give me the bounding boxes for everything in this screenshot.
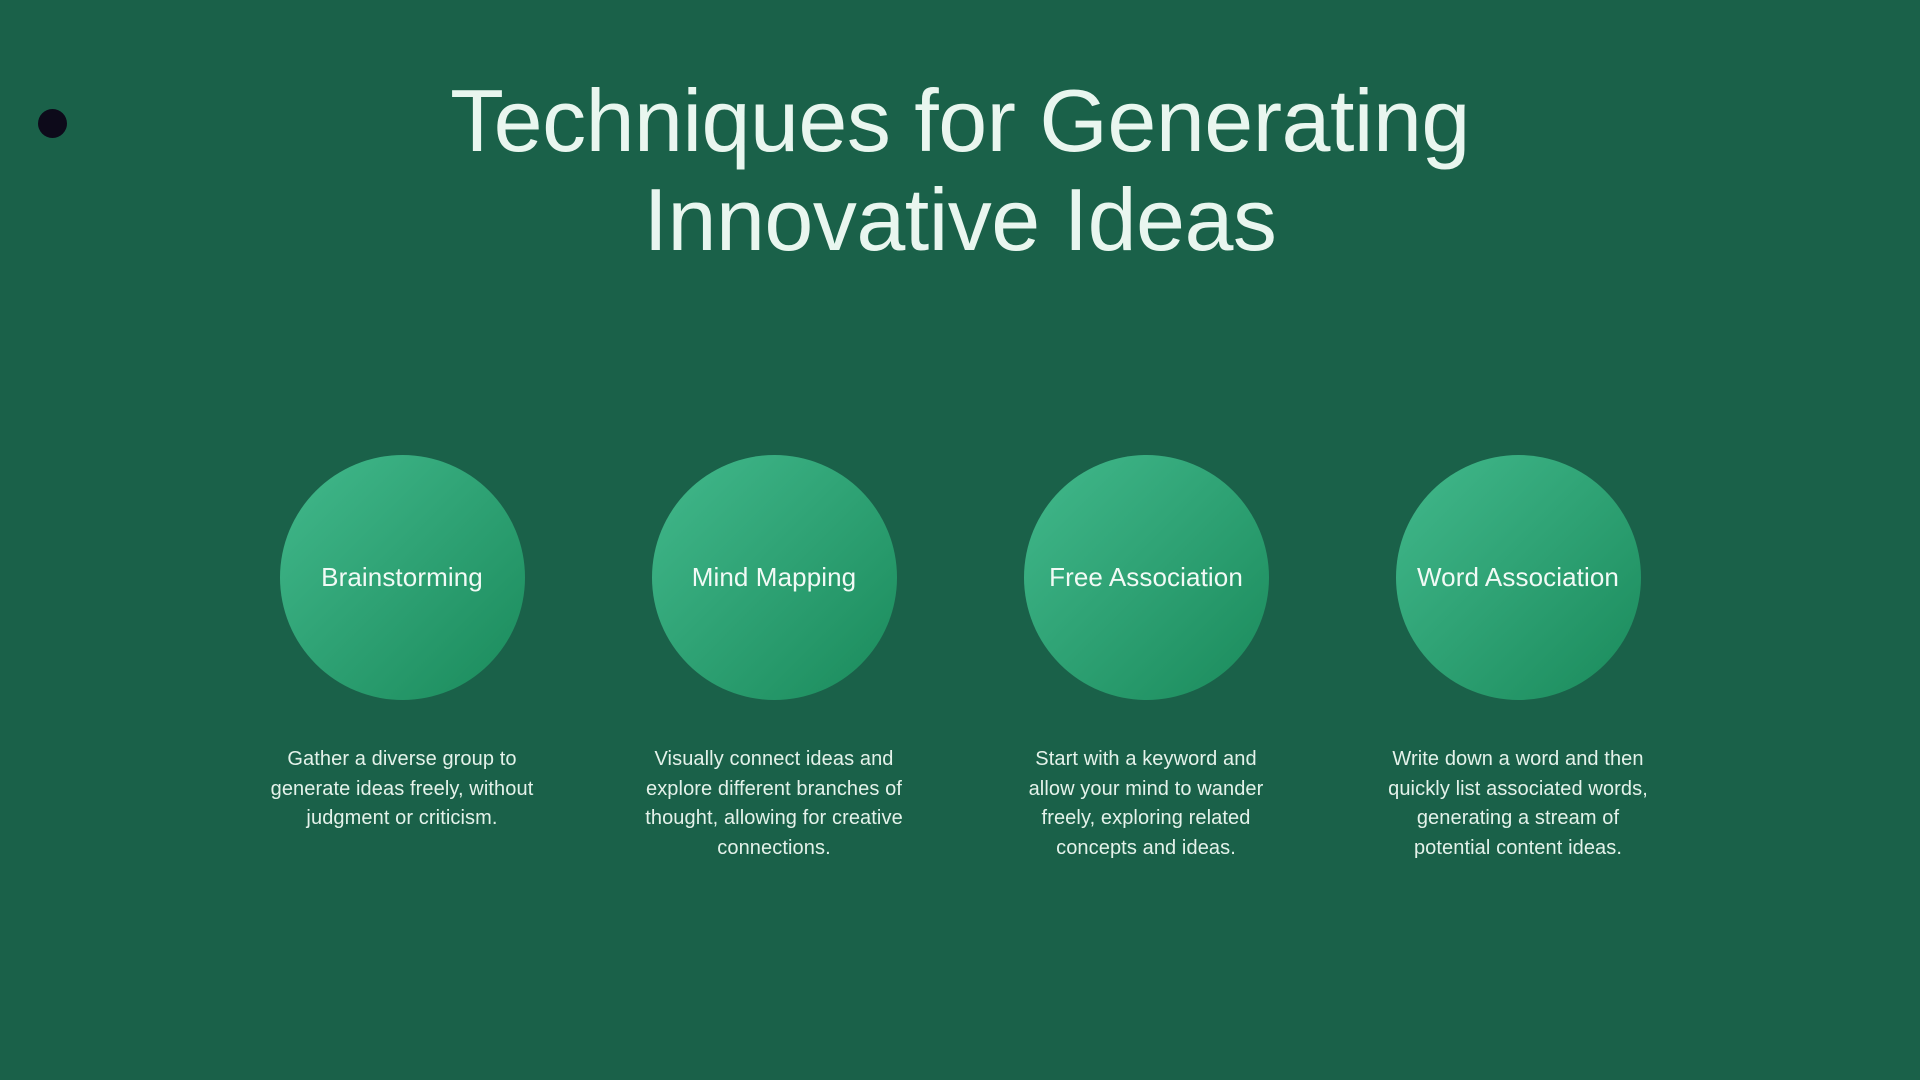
technique-bubble-brainstorming[interactable]: Brainstorming — [280, 455, 525, 700]
technique-description: Visually connect ideas and explore diffe… — [642, 745, 907, 863]
bullet-dot-icon — [38, 109, 67, 138]
slide-root: Techniques for Generating Innovative Ide… — [0, 0, 1920, 1080]
technique-description: Start with a keyword and allow your mind… — [1014, 745, 1279, 863]
technique-card[interactable]: Mind Mapping Visually connect ideas and … — [652, 455, 897, 863]
technique-card[interactable]: Free Association Start with a keyword an… — [1024, 455, 1269, 863]
technique-bubble-label: Brainstorming — [305, 560, 499, 594]
page-title: Techniques for Generating Innovative Ide… — [370, 72, 1550, 269]
technique-bubble-label: Free Association — [1033, 560, 1259, 594]
technique-description: Gather a diverse group to generate ideas… — [270, 745, 535, 834]
technique-card[interactable]: Brainstorming Gather a diverse group to … — [280, 455, 525, 834]
technique-bubble-mind-mapping[interactable]: Mind Mapping — [652, 455, 897, 700]
technique-card-list: Brainstorming Gather a diverse group to … — [0, 455, 1920, 863]
technique-description: Write down a word and then quickly list … — [1386, 745, 1651, 863]
technique-bubble-label: Word Association — [1401, 560, 1635, 594]
technique-card[interactable]: Word Association Write down a word and t… — [1396, 455, 1641, 863]
technique-bubble-label: Mind Mapping — [676, 560, 873, 594]
technique-bubble-free-association[interactable]: Free Association — [1024, 455, 1269, 700]
technique-bubble-word-association[interactable]: Word Association — [1396, 455, 1641, 700]
